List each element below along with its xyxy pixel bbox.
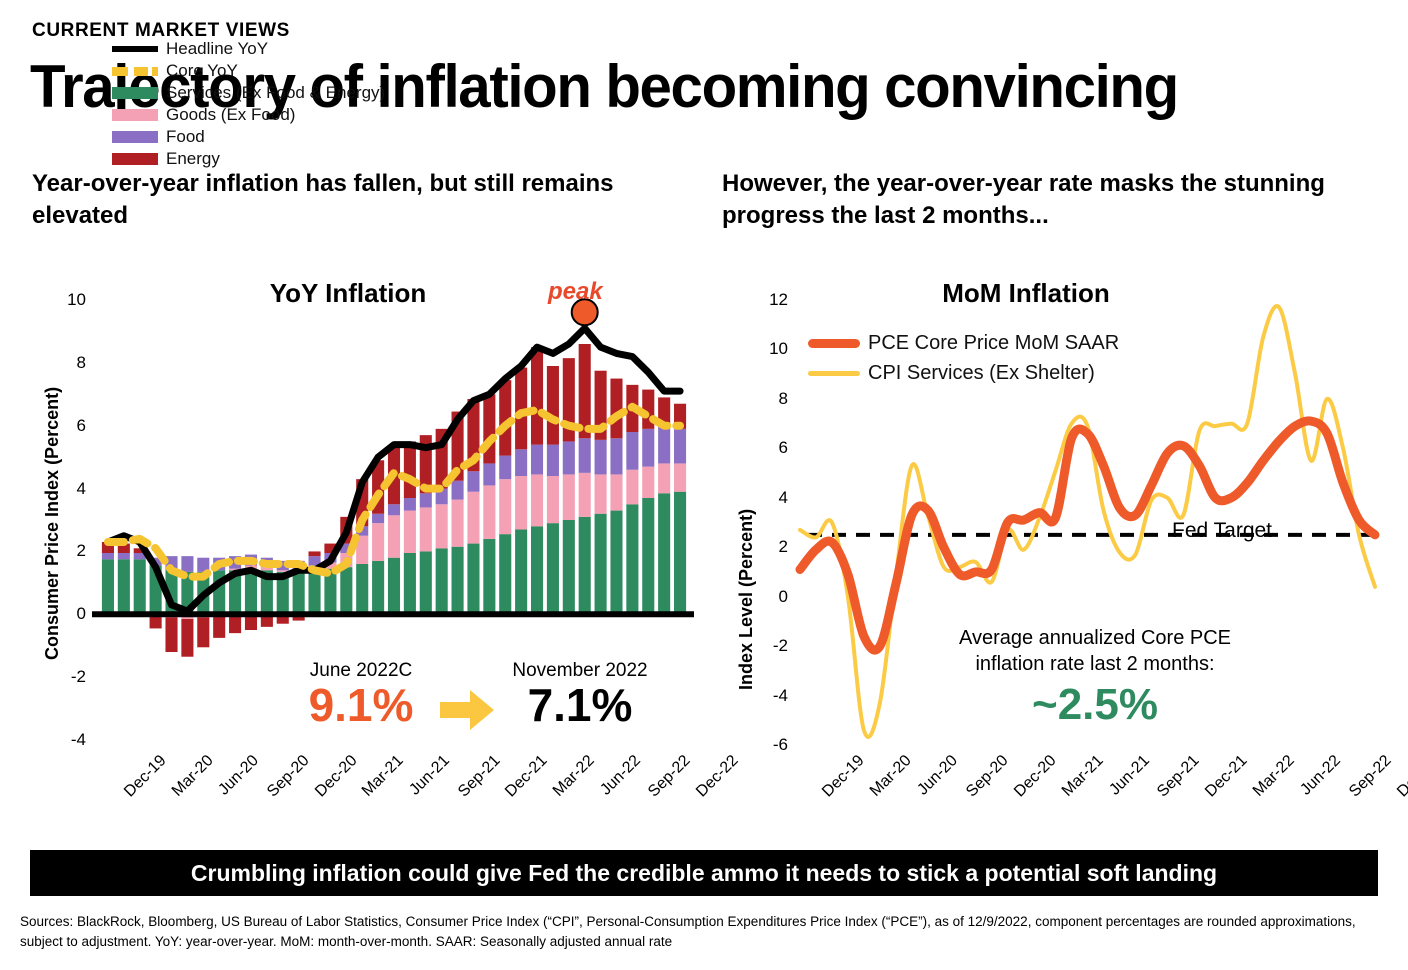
june-callout: June 2022C 9.1% [286,660,436,728]
legend-label: Headline YoY [166,39,268,59]
legend-yoy: Headline YoYCore YoYServices (Ex Food & … [112,38,385,170]
y-tick-left: 6 [40,416,86,436]
legend-item-yoy: Energy [112,148,385,170]
subhead-left: Year-over-year inflation has fallen, but… [32,168,682,233]
y-tick-right: 0 [740,587,788,607]
subhead-right: However, the year-over-year rate masks t… [722,168,1382,233]
legend-item-yoy: Goods (Ex Food) [112,104,385,126]
y-tick-right: 4 [740,488,788,508]
legend-item-yoy: Headline YoY [112,38,385,60]
x-tick-right: Dec-22 [1394,752,1408,801]
legend-swatch-icon [112,131,158,143]
legend-label: Energy [166,149,220,169]
y-tick-left: -2 [40,667,86,687]
legend-item-yoy: Core YoY [112,60,385,82]
bottom-banner: Crumbling inflation could give Fed the c… [30,850,1378,896]
average-line-1: Average annualized Core PCE [930,625,1260,651]
y-tick-left: 0 [40,604,86,624]
legend-swatch-icon [112,67,158,76]
average-line-2: inflation rate last 2 months: [930,651,1260,677]
y-tick-left: 2 [40,541,86,561]
average-value: ~2.5% [930,683,1260,727]
legend-label: Goods (Ex Food) [166,105,295,125]
y-tick-right: -6 [740,735,788,755]
right-arrow-icon [440,690,494,730]
y-tick-right: -2 [740,636,788,656]
y-tick-right: -4 [740,686,788,706]
june-value: 9.1% [286,682,436,728]
legend-label: Core YoY [166,61,238,81]
y-tick-left: 10 [40,290,86,310]
y-tick-left: 8 [40,353,86,373]
legend-swatch-icon [112,87,158,99]
y-tick-right: 12 [740,290,788,310]
november-value: 7.1% [490,682,670,728]
peak-annotation: peak [548,278,603,306]
y-tick-right: 8 [740,389,788,409]
legend-label: Services (Ex Food & Energy) [166,83,385,103]
average-callout: Average annualized Core PCE inflation ra… [930,625,1260,727]
infographic-page: CURRENT MARKET VIEWS Trajectory of infla… [0,0,1408,970]
november-callout: November 2022 7.1% [490,660,670,728]
legend-swatch-icon [112,109,158,121]
y-tick-right: 2 [740,537,788,557]
legend-swatch-icon [112,46,158,52]
legend-swatch-icon [112,153,158,165]
y-tick-left: -4 [40,730,86,750]
y-tick-right: 10 [740,339,788,359]
y-tick-left: 4 [40,479,86,499]
y-tick-right: 6 [740,438,788,458]
sources-note: Sources: BlackRock, Bloomberg, US Bureau… [20,912,1390,951]
fed-target-label: Fed Target [1172,519,1272,543]
legend-label: Food [166,127,205,147]
legend-item-yoy: Food [112,126,385,148]
legend-item-yoy: Services (Ex Food & Energy) [112,82,385,104]
